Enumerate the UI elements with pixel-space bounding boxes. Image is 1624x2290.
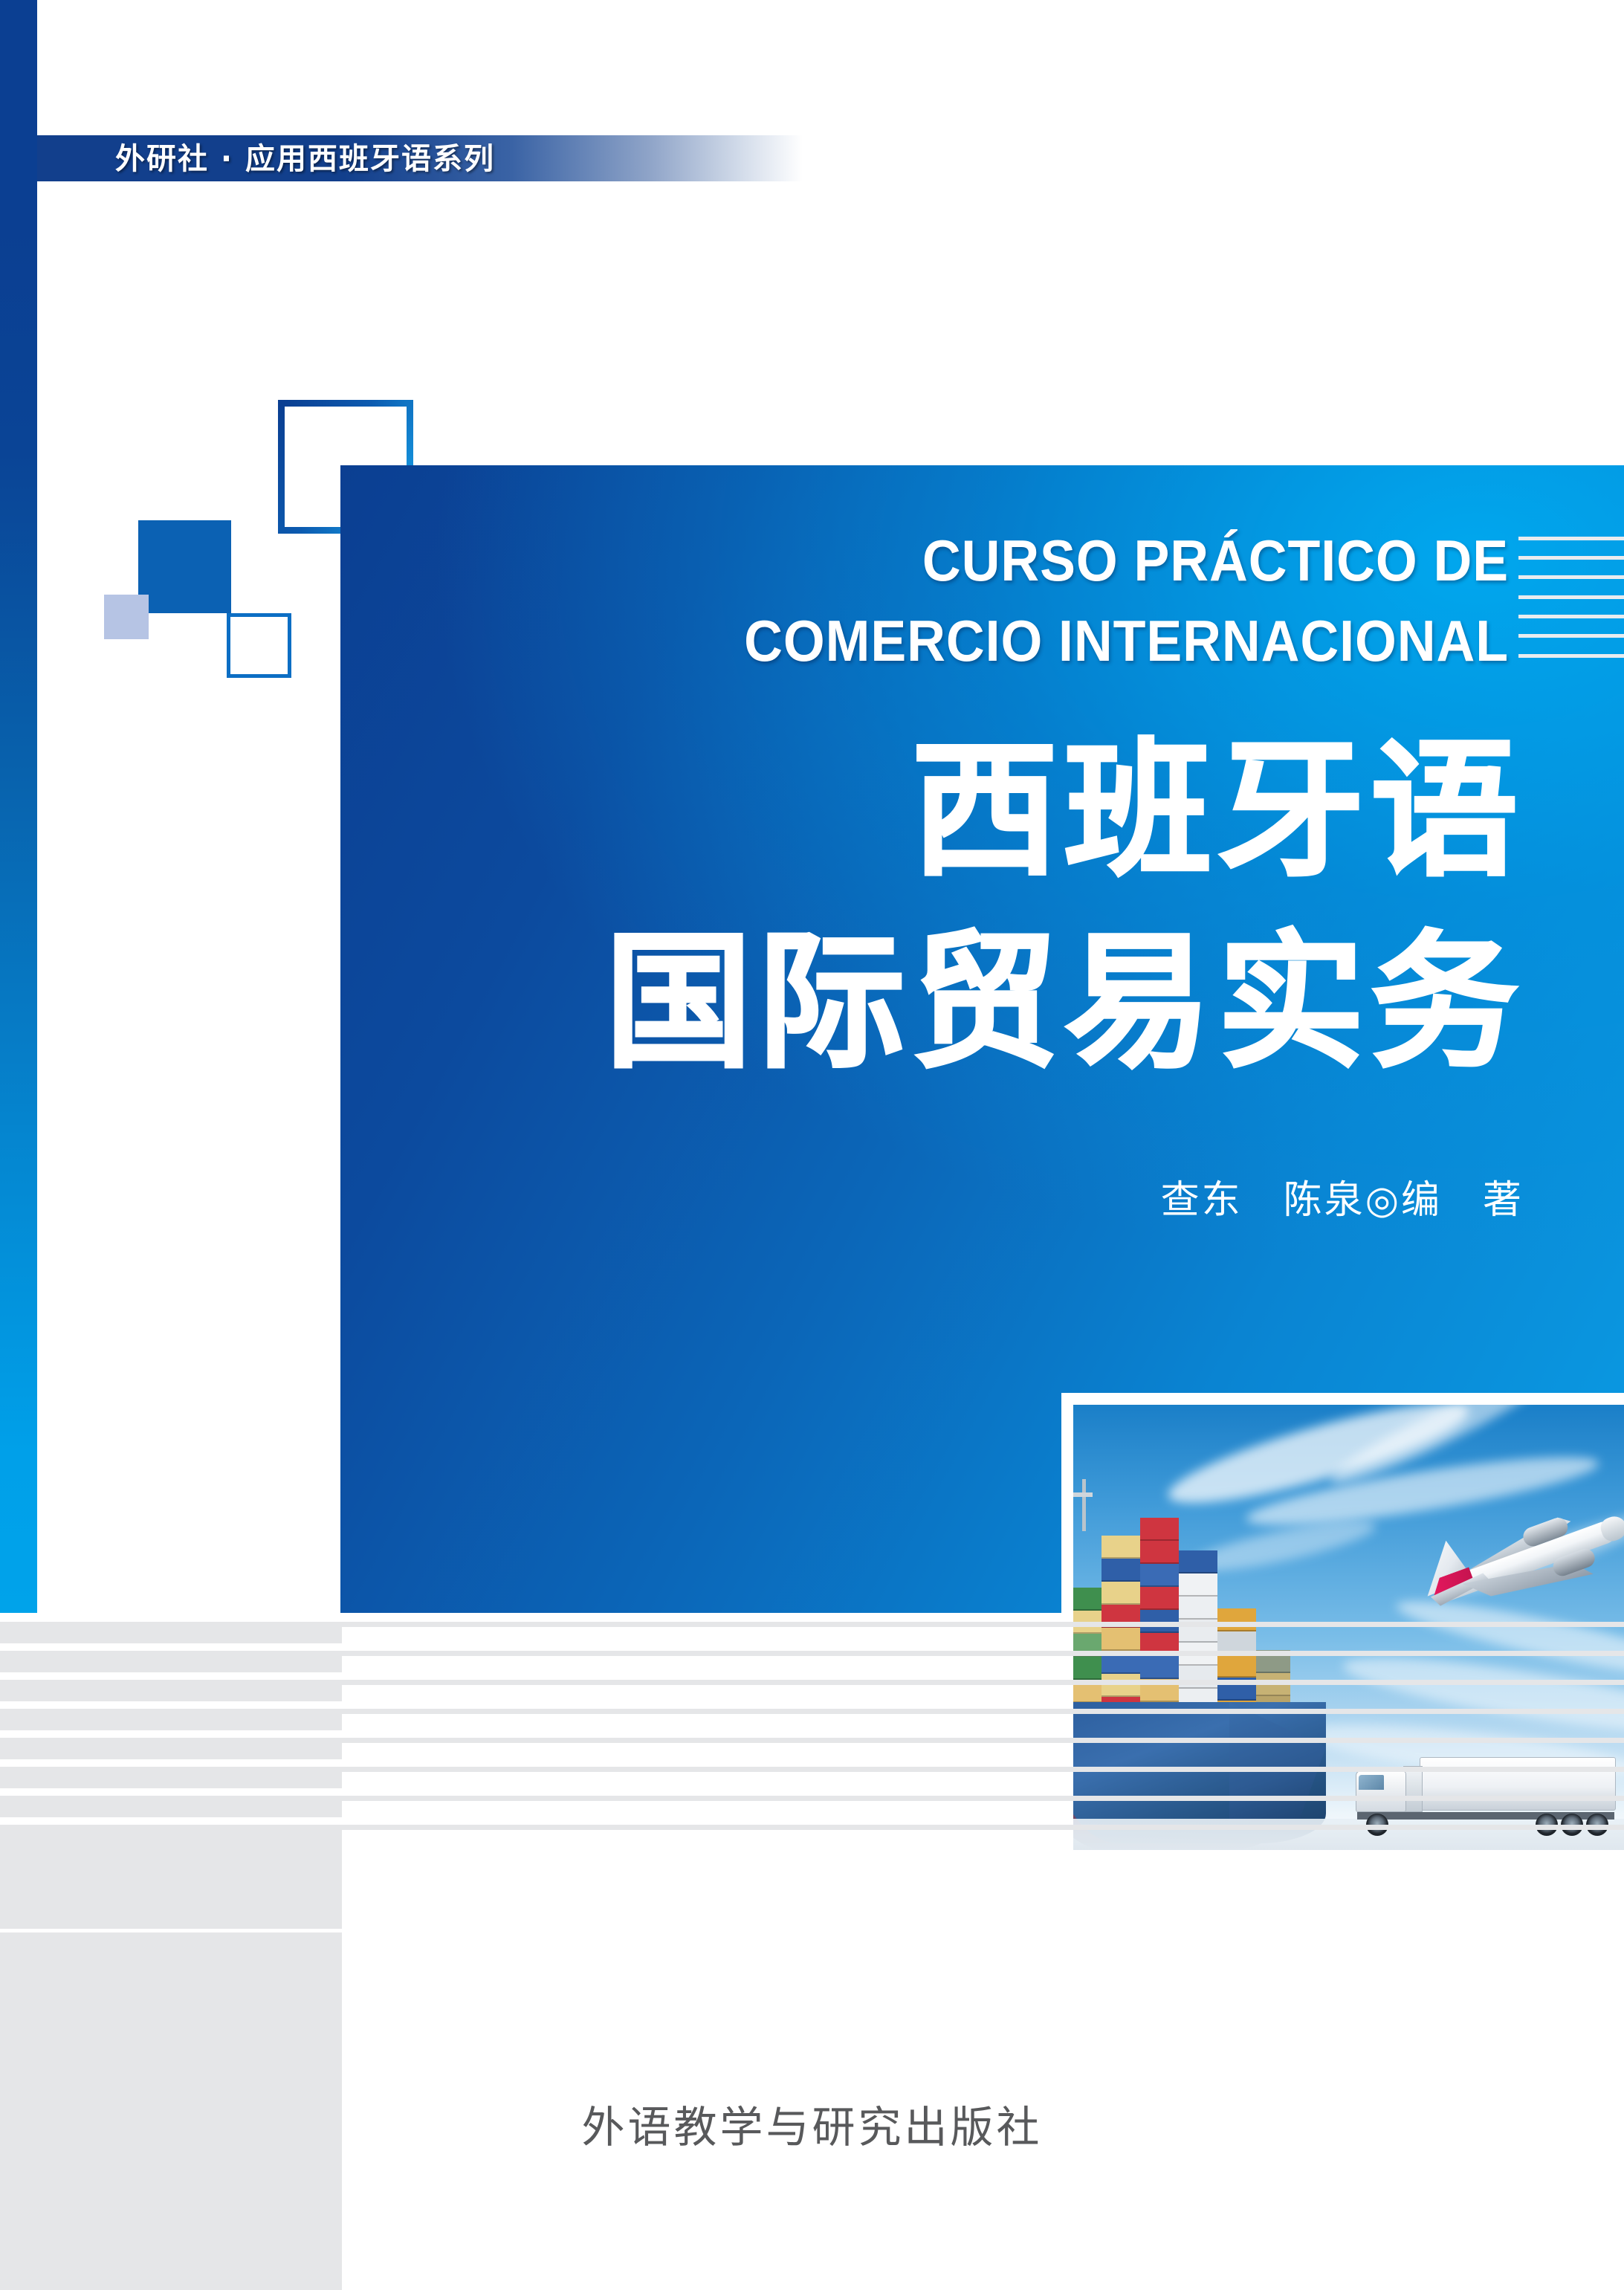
stripe-gap xyxy=(0,1730,342,1738)
stripe-gap xyxy=(0,1613,342,1622)
series-banner-label: 外研社 · 应用西班牙语系列 xyxy=(115,141,784,177)
stripe-gap xyxy=(0,1672,342,1680)
book-cover: 外研社 · 应用西班牙语系列 CURSO PRÁCTICO DE COMERCI… xyxy=(0,0,1624,2290)
stripe-gap xyxy=(0,1643,342,1651)
stripe-line xyxy=(342,1622,1624,1627)
stripe-row xyxy=(0,1651,342,1672)
author-line: 查东 陈泉◎编 著 xyxy=(669,1168,1524,1224)
stripe-line xyxy=(342,1709,1624,1714)
left-gradient-bar xyxy=(0,0,37,1613)
stripe-gap xyxy=(0,1759,342,1767)
bottom-stripes-left xyxy=(0,1613,342,1932)
decor-square-lavender xyxy=(104,595,149,639)
spanish-title: CURSO PRÁCTICO DE COMERCIO INTERNACIONAL xyxy=(442,520,1509,681)
stripe-line xyxy=(342,1738,1624,1743)
ship-mast xyxy=(1082,1479,1086,1531)
decor-horizontal-lines xyxy=(1518,537,1624,663)
stripe-gap xyxy=(0,1817,342,1825)
stripe-gap xyxy=(0,1701,342,1709)
stripe-row xyxy=(0,1622,342,1643)
stripe-line xyxy=(342,1651,1624,1656)
stripe-row xyxy=(0,1767,342,1788)
stripe-row xyxy=(0,1825,342,1929)
stripe-line xyxy=(342,1796,1624,1801)
stripe-row xyxy=(0,1796,342,1817)
bottom-stripes-right xyxy=(342,1613,1624,1932)
stripe-line xyxy=(342,1767,1624,1772)
stripe-gap xyxy=(0,1788,342,1796)
ship-mast-crossbar xyxy=(1073,1492,1093,1497)
stripe-row xyxy=(0,1680,342,1701)
stripe-row xyxy=(0,1738,342,1759)
stripe-line xyxy=(342,1825,1624,1830)
stripe-row xyxy=(0,1709,342,1730)
stripe-line xyxy=(342,1680,1624,1685)
publisher-name: 外语教学与研究出版社 xyxy=(0,2092,1624,2155)
decor-square-solid-medium xyxy=(138,520,231,613)
chinese-title: 西班牙语 国际贸易实务 xyxy=(401,715,1524,1099)
decor-square-outline-small xyxy=(227,613,291,678)
